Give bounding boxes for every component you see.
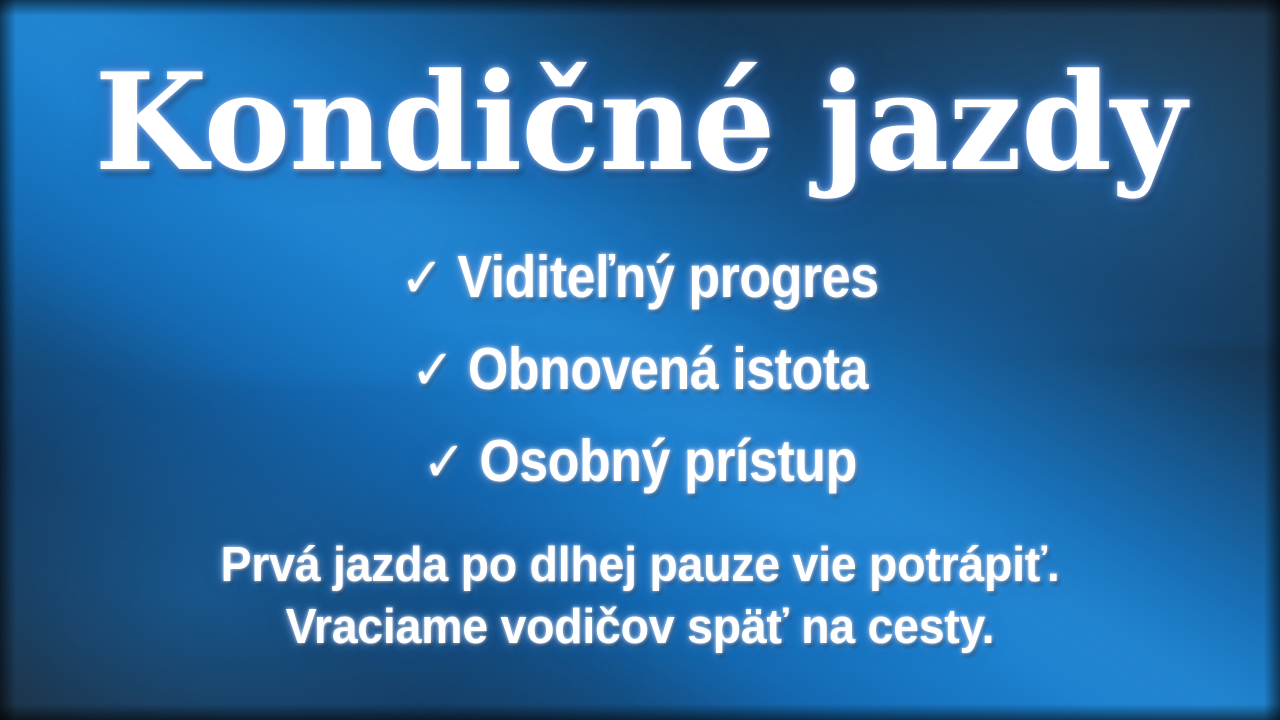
promo-slide: Kondičné jazdy ✓ Viditeľný progres ✓ Obn… bbox=[0, 0, 1280, 720]
slide-headline: Kondičné jazdy bbox=[19, 52, 1261, 193]
benefit-item-1-label: Viditeľný progres bbox=[457, 232, 878, 322]
benefit-item-2: ✓ Obnovená istota bbox=[412, 324, 868, 416]
benefit-item-1: ✓ Viditeľný progres bbox=[401, 232, 878, 324]
benefit-item-2-label: Obnovená istota bbox=[468, 324, 868, 414]
slide-content: Kondičné jazdy ✓ Viditeľný progres ✓ Obn… bbox=[0, 0, 1280, 720]
caption-line-1: Prvá jazda po dlhej pauze vie potrápiť. bbox=[32, 534, 1248, 596]
slide-caption: Prvá jazda po dlhej pauze vie potrápiť. … bbox=[0, 534, 1280, 658]
check-mark-icon: ✓ bbox=[411, 326, 454, 416]
benefit-item-3: ✓ Osobný prístup bbox=[423, 416, 856, 508]
benefit-list: ✓ Viditeľný progres ✓ Obnovená istota ✓ … bbox=[0, 232, 1280, 508]
benefit-item-3-label: Osobný prístup bbox=[479, 416, 856, 506]
check-mark-icon: ✓ bbox=[422, 418, 465, 508]
caption-line-2: Vraciame vodičov späť na cesty. bbox=[32, 596, 1248, 658]
check-mark-icon: ✓ bbox=[400, 234, 443, 324]
